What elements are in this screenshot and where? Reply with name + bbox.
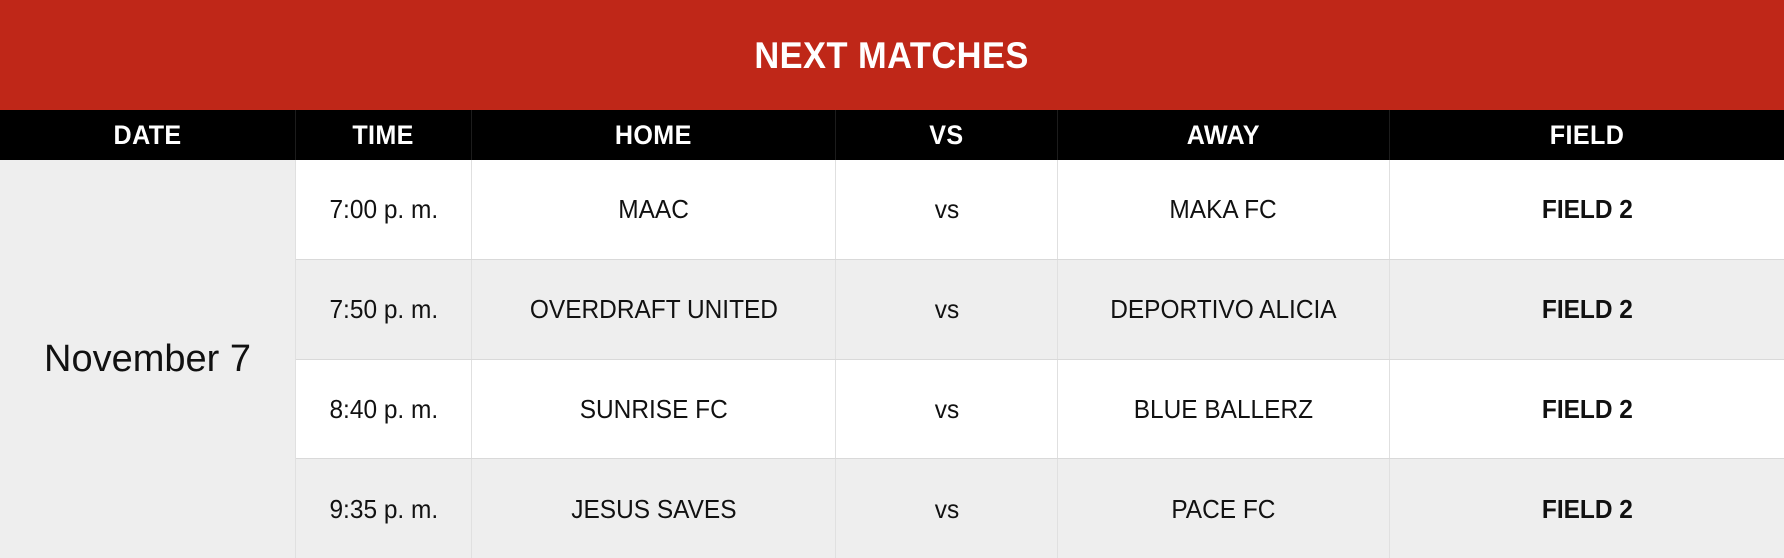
cell-time-text: 7:50 p. m. (329, 296, 438, 322)
column-header-field: FIELD (1390, 110, 1784, 160)
column-header-vs-label: VS (929, 122, 963, 149)
column-header-date: DATE (0, 110, 296, 160)
cell-vs: vs (836, 459, 1058, 558)
cell-field: FIELD 2 (1390, 260, 1784, 359)
cell-vs: vs (836, 360, 1058, 459)
cell-vs: vs (836, 260, 1058, 359)
cell-time: 7:00 p. m. (296, 160, 472, 259)
cell-vs: vs (836, 160, 1058, 259)
table-row[interactable]: 8:40 p. m. SUNRISE FC vs BLUE BALLERZ FI… (296, 360, 1784, 460)
cell-field-text: FIELD 2 (1541, 296, 1632, 322)
cell-away: DEPORTIVO ALICIA (1058, 260, 1390, 359)
cell-home: MAAC (472, 160, 836, 259)
column-header-away: AWAY (1058, 110, 1390, 160)
cell-home-text: MAAC (618, 196, 689, 222)
cell-away-text: PACE FC (1171, 496, 1275, 522)
page-title: NEXT MATCHES (755, 37, 1029, 74)
table-row[interactable]: 7:50 p. m. OVERDRAFT UNITED vs DEPORTIVO… (296, 260, 1784, 360)
column-header-time: TIME (296, 110, 472, 160)
column-header-home-label: HOME (615, 122, 692, 149)
cell-vs-text: vs (934, 496, 958, 522)
table-body: November 7 7:00 p. m. MAAC vs MAKA FC FI… (0, 160, 1784, 558)
column-header-time-label: TIME (353, 122, 414, 149)
cell-vs-text: vs (934, 196, 958, 222)
table-row[interactable]: 7:00 p. m. MAAC vs MAKA FC FIELD 2 (296, 160, 1784, 260)
cell-field: FIELD 2 (1390, 360, 1784, 459)
cell-time: 9:35 p. m. (296, 459, 472, 558)
date-group-label: November 7 (44, 340, 251, 378)
cell-field-text: FIELD 2 (1541, 396, 1632, 422)
cell-field-text: FIELD 2 (1541, 196, 1632, 222)
cell-time-text: 9:35 p. m. (329, 496, 438, 522)
table-row[interactable]: 9:35 p. m. JESUS SAVES vs PACE FC FIELD … (296, 459, 1784, 558)
cell-home: SUNRISE FC (472, 360, 836, 459)
table-header-row: DATE TIME HOME VS AWAY FIELD (0, 110, 1784, 160)
column-header-away-label: AWAY (1187, 122, 1260, 149)
cell-home: OVERDRAFT UNITED (472, 260, 836, 359)
cell-away: BLUE BALLERZ (1058, 360, 1390, 459)
column-header-date-label: DATE (113, 122, 181, 149)
cell-away-text: DEPORTIVO ALICIA (1110, 296, 1336, 322)
cell-away: MAKA FC (1058, 160, 1390, 259)
cell-home: JESUS SAVES (472, 459, 836, 558)
cell-vs-text: vs (934, 396, 958, 422)
cell-vs-text: vs (934, 296, 958, 322)
cell-away: PACE FC (1058, 459, 1390, 558)
next-matches-widget: NEXT MATCHES DATE TIME HOME VS AWAY FIEL… (0, 0, 1784, 558)
cell-field: FIELD 2 (1390, 459, 1784, 558)
column-header-home: HOME (472, 110, 836, 160)
cell-field-text: FIELD 2 (1541, 496, 1632, 522)
cell-home-text: SUNRISE FC (579, 396, 727, 422)
date-group-cell: November 7 (0, 160, 296, 558)
cell-home-text: OVERDRAFT UNITED (529, 296, 777, 322)
cell-time-text: 7:00 p. m. (329, 196, 438, 222)
cell-away-text: MAKA FC (1170, 196, 1277, 222)
cell-time: 7:50 p. m. (296, 260, 472, 359)
cell-time: 8:40 p. m. (296, 360, 472, 459)
banner: NEXT MATCHES (0, 0, 1784, 110)
column-header-field-label: FIELD (1550, 122, 1624, 149)
cell-time-text: 8:40 p. m. (329, 396, 438, 422)
cell-field: FIELD 2 (1390, 160, 1784, 259)
column-header-vs: VS (836, 110, 1058, 160)
cell-away-text: BLUE BALLERZ (1134, 396, 1313, 422)
match-rows: 7:00 p. m. MAAC vs MAKA FC FIELD 2 7:50 … (296, 160, 1784, 558)
cell-home-text: JESUS SAVES (571, 496, 736, 522)
